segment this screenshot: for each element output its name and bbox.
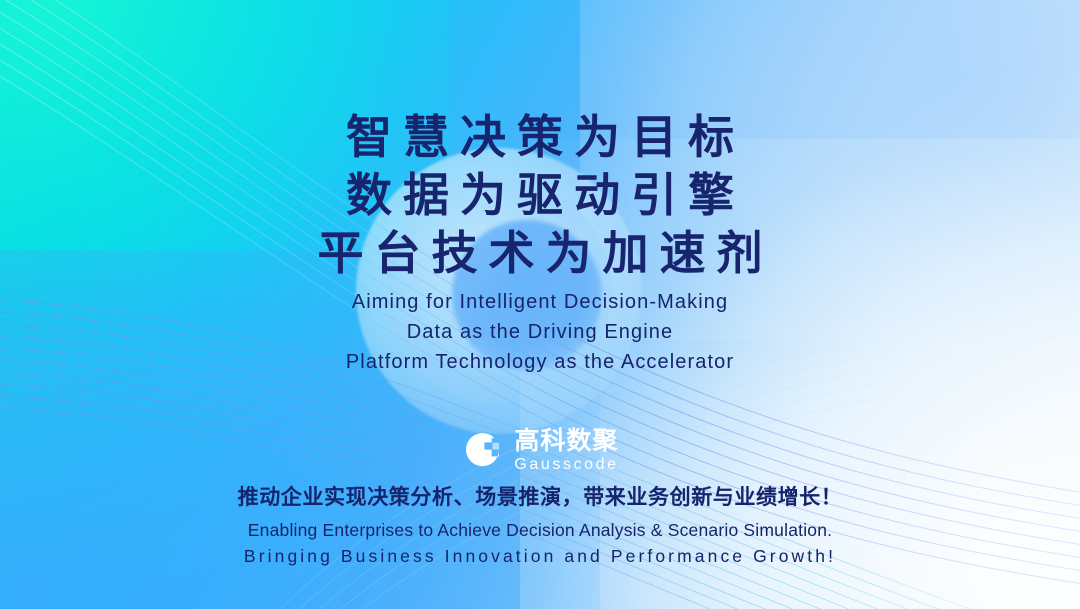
logo-name-en: Gausscode bbox=[514, 457, 618, 473]
poster-content: 智慧决策为目标 数据为驱动引擎 平台技术为加速剂 Aiming for Inte… bbox=[0, 0, 1080, 609]
headline-block: 智慧决策为目标 数据为驱动引擎 平台技术为加速剂 bbox=[0, 108, 1080, 282]
tagline-en-line1: Enabling Enterprises to Achieve Decision… bbox=[0, 517, 1080, 543]
subheadline-line-3: Platform Technology as the Accelerator bbox=[0, 347, 1080, 377]
brand-logo: 高科数聚 Gausscode bbox=[0, 428, 1080, 473]
headline-line-1: 智慧决策为目标 bbox=[0, 108, 1080, 166]
headline-line-2: 数据为驱动引擎 bbox=[0, 166, 1080, 224]
headline-line-3: 平台技术为加速剂 bbox=[0, 224, 1080, 282]
logo-name-cn: 高科数聚 bbox=[514, 428, 618, 453]
promotional-poster: 智慧决策为目标 数据为驱动引擎 平台技术为加速剂 Aiming for Inte… bbox=[0, 0, 1080, 609]
gausscode-logo-mark bbox=[461, 429, 505, 473]
tagline-en-line2: Bringing Business Innovation and Perform… bbox=[0, 543, 1080, 569]
tagline-block: 推动企业实现决策分析、场景推演，带来业务创新与业绩增长！ Enabling En… bbox=[0, 482, 1080, 569]
tagline-cn: 推动企业实现决策分析、场景推演，带来业务创新与业绩增长！ bbox=[0, 482, 1080, 512]
subheadline-block: Aiming for Intelligent Decision-Making D… bbox=[0, 287, 1080, 377]
subheadline-line-1: Aiming for Intelligent Decision-Making bbox=[0, 287, 1080, 317]
subheadline-line-2: Data as the Driving Engine bbox=[0, 317, 1080, 347]
